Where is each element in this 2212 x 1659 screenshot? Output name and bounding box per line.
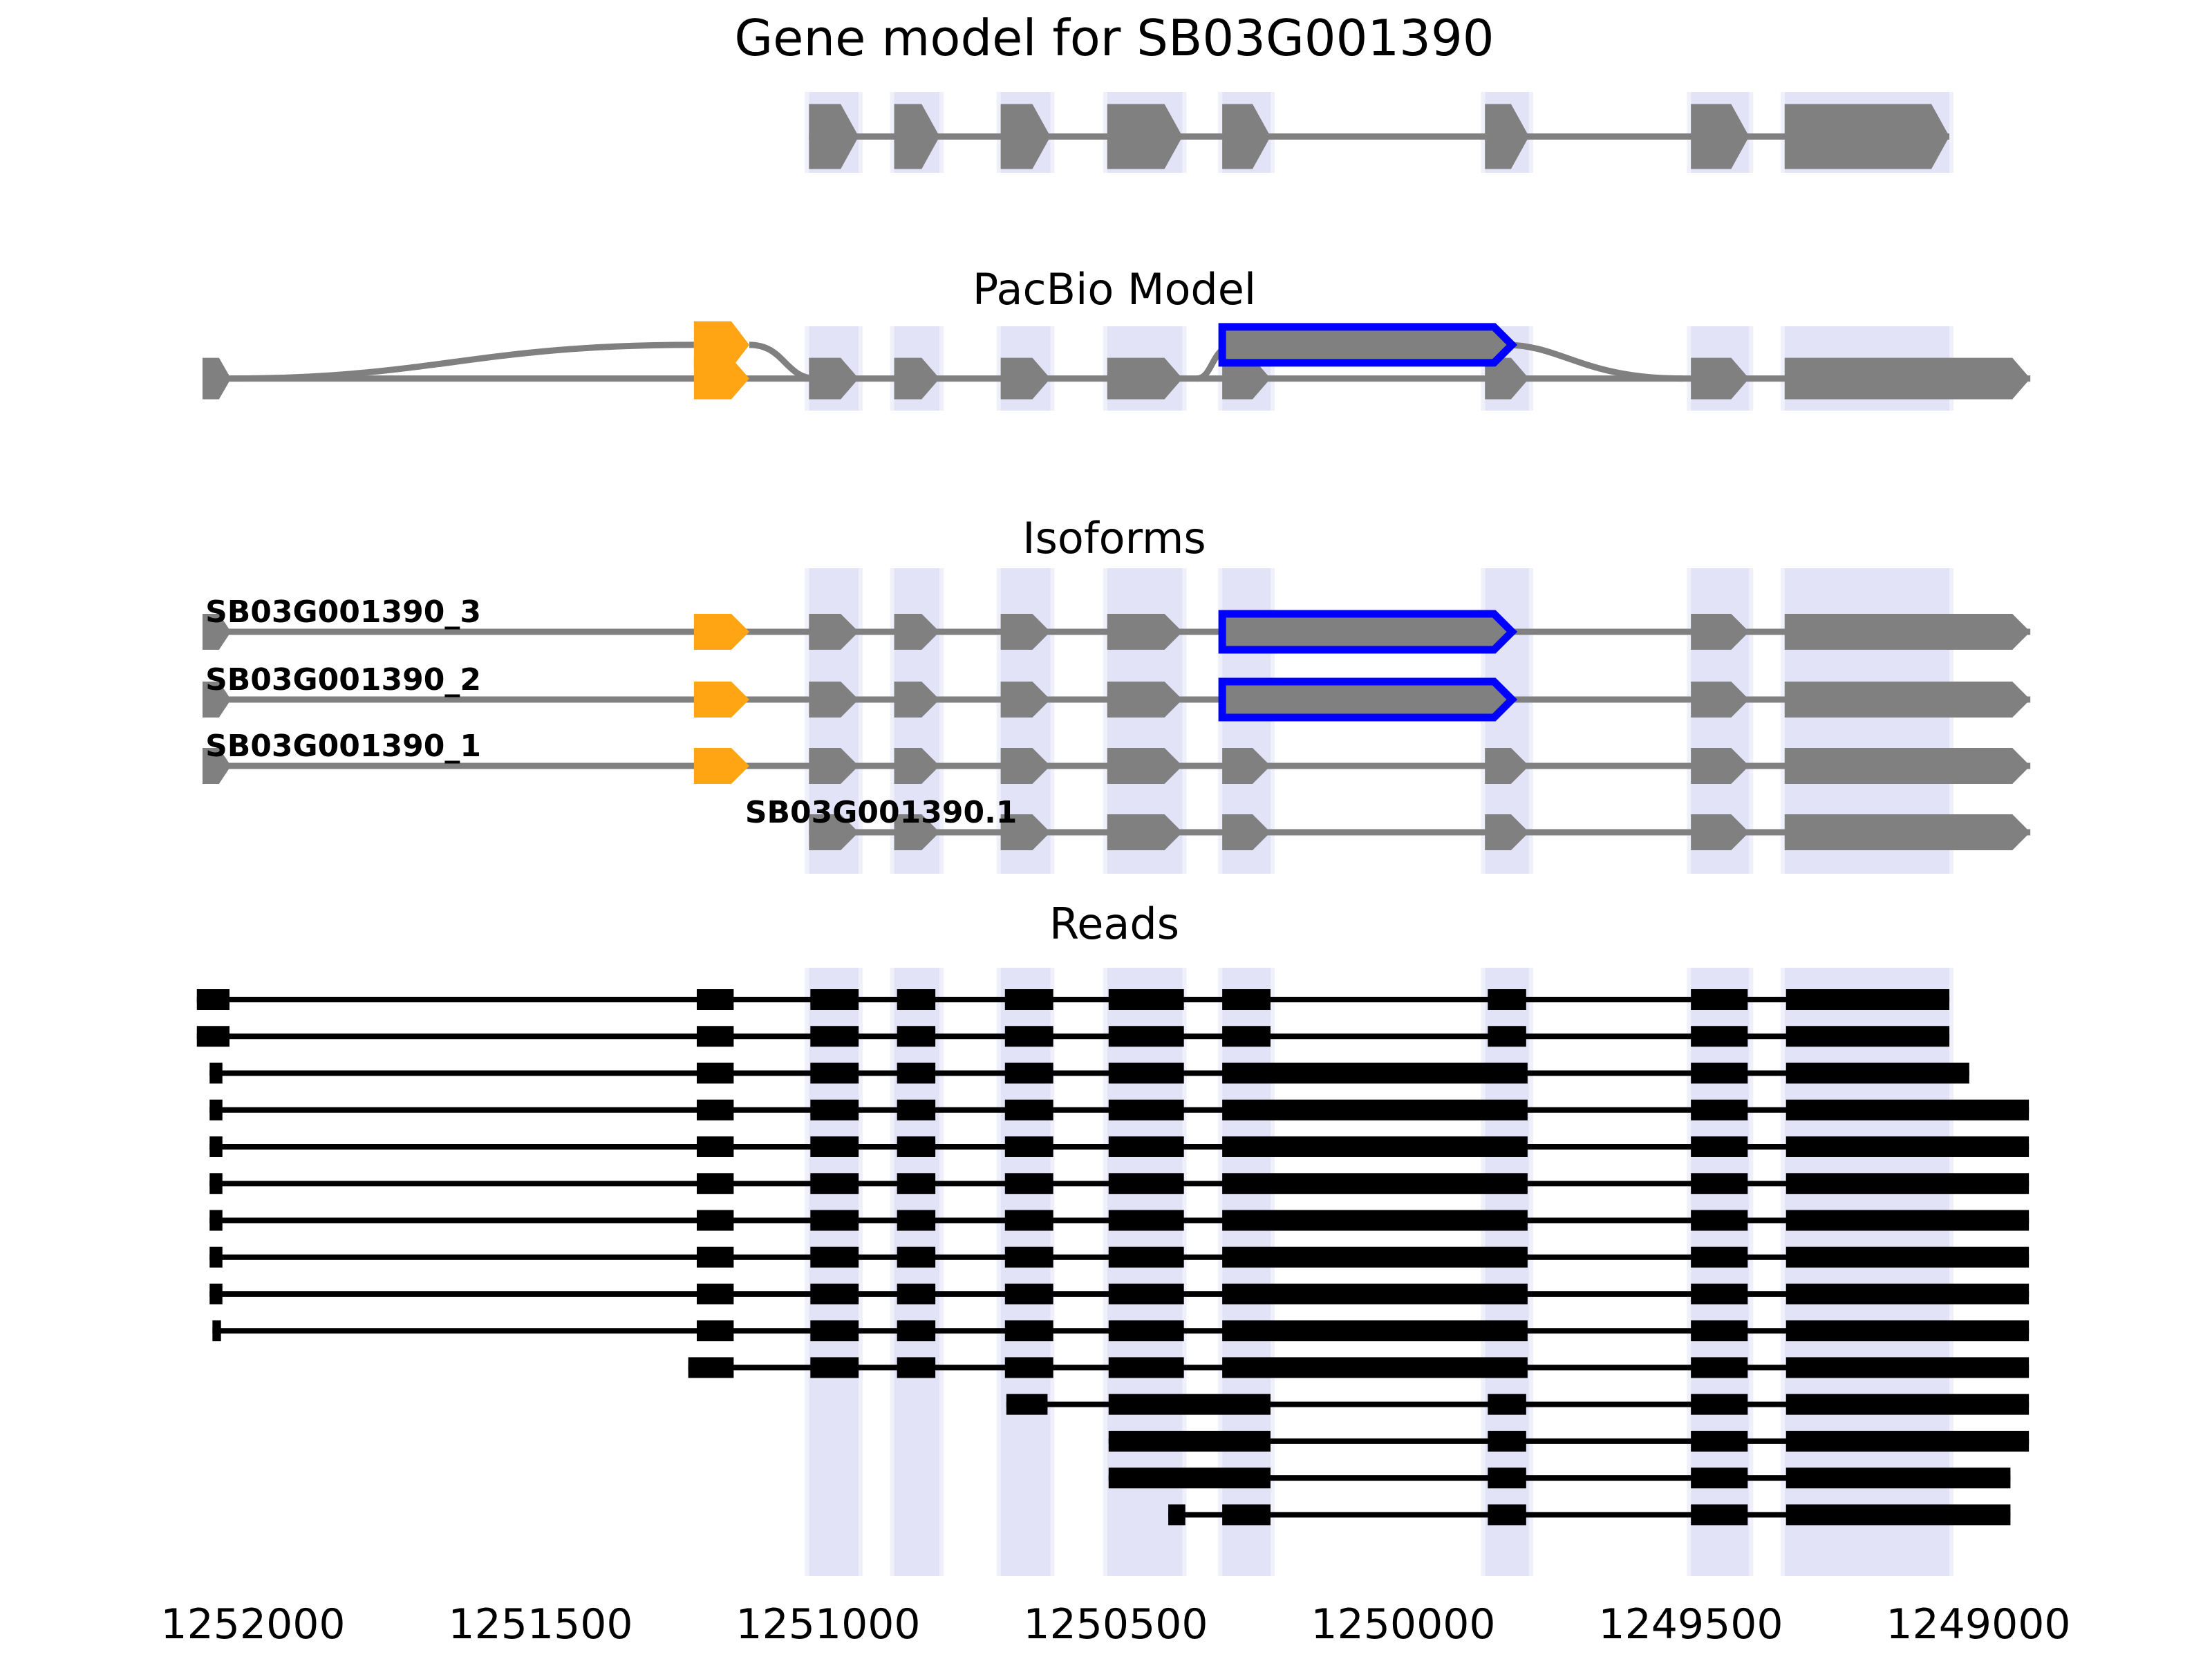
read-block-0 — [212, 1320, 221, 1341]
highlight-band-edge-l-4 — [1218, 92, 1222, 173]
highlight-band-edge-r-0 — [859, 326, 863, 411]
exon-8 — [1785, 682, 2030, 718]
read-block-0 — [209, 1100, 222, 1121]
highlight-band-edge-r-2 — [1051, 568, 1055, 874]
highlight-band-edge-r-1 — [939, 92, 944, 173]
read-block-4 — [1005, 1210, 1053, 1230]
read-block-3 — [1786, 1431, 2029, 1452]
panel-title-reads: Reads — [1049, 899, 1179, 949]
read-block-6 — [1222, 1210, 1528, 1230]
axis-tick-label-3: 1250500 — [1023, 1600, 1208, 1649]
exon-9 — [1785, 358, 2030, 400]
highlight-band-edge-l-7 — [1781, 568, 1785, 874]
highlight-band-edge-l-1 — [890, 326, 894, 411]
highlight-band-edge-r-5 — [1529, 92, 1533, 173]
axis-tick-label-5: 1249500 — [1598, 1600, 1783, 1649]
read-block-0 — [209, 1173, 222, 1194]
highlight-band-edge-r-6 — [1749, 568, 1753, 874]
exon-7 — [1785, 104, 1949, 169]
read-block-0 — [1109, 1468, 1271, 1488]
axis-tick-label-0: 1252000 — [160, 1600, 345, 1649]
highlight-band-0 — [809, 968, 859, 1576]
read-block-4 — [1005, 1247, 1053, 1268]
read-block-2 — [1691, 1431, 1747, 1452]
read-block-5 — [1222, 1357, 1528, 1378]
read-block-3 — [897, 1210, 935, 1230]
read-block-5 — [1109, 1136, 1184, 1157]
read-block-4 — [1005, 1173, 1053, 1194]
read-block-8 — [1786, 1284, 2029, 1304]
read-block-3 — [897, 1026, 935, 1047]
panel-title-isoforms: Isoforms — [1022, 513, 1206, 563]
exon-6 — [1222, 682, 1512, 718]
read-block-8 — [1786, 1100, 2029, 1121]
read-block-2 — [810, 1210, 859, 1230]
read-block-0 — [209, 1247, 222, 1268]
read-block-5 — [1109, 1062, 1184, 1083]
read-block-6 — [1222, 1062, 1528, 1083]
read-block-2 — [810, 1100, 859, 1121]
read-block-8 — [1691, 989, 1747, 1010]
exon-6 — [1222, 614, 1512, 650]
read-block-0 — [688, 1357, 734, 1378]
highlight-band-edge-r-7 — [1949, 92, 1953, 173]
read-block-7 — [1691, 1247, 1747, 1268]
highlight-band-edge-r-5 — [1529, 568, 1533, 874]
exon-blue-outline-upper — [1222, 327, 1512, 363]
read-block-5 — [1109, 1173, 1184, 1194]
read-block-2 — [810, 1320, 859, 1341]
highlight-band-edge-l-6 — [1687, 568, 1691, 874]
axis-tick-label-2: 1251000 — [735, 1600, 920, 1649]
read-block-6 — [1691, 1357, 1747, 1378]
highlight-band-edge-l-7 — [1781, 326, 1785, 411]
highlight-band-edge-l-3 — [1103, 326, 1107, 411]
highlight-band-edge-r-2 — [1051, 968, 1055, 1576]
highlight-band-edge-l-5 — [1481, 968, 1485, 1576]
read-block-9 — [1786, 989, 1949, 1010]
highlight-band-edge-l-0 — [805, 968, 809, 1576]
read-block-0 — [209, 1136, 222, 1157]
read-block-8 — [1786, 1062, 1969, 1083]
read-block-7 — [1488, 989, 1526, 1010]
highlight-band-edge-l-6 — [1687, 968, 1691, 1576]
read-block-1 — [697, 1210, 733, 1230]
read-block-1 — [697, 1247, 733, 1268]
read-block-1 — [697, 1136, 733, 1157]
read-block-6 — [1222, 1136, 1528, 1157]
read-block-4 — [1786, 1504, 2011, 1525]
highlight-band-edge-l-2 — [997, 968, 1001, 1576]
isoform-label-0: SB03G001390_3 — [205, 594, 481, 630]
read-block-0 — [197, 1026, 229, 1047]
highlight-band-edge-l-5 — [1481, 92, 1485, 173]
read-block-3 — [1005, 1357, 1053, 1378]
read-block-0 — [209, 1284, 222, 1304]
read-block-6 — [1222, 1026, 1271, 1047]
read-block-3 — [897, 1320, 935, 1341]
read-block-6 — [1222, 1100, 1528, 1121]
read-block-7 — [1691, 1173, 1747, 1194]
read-block-0 — [209, 1210, 222, 1230]
highlight-band-edge-r-0 — [859, 968, 863, 1576]
axis-tick-label-1: 1251500 — [448, 1600, 632, 1649]
read-block-1 — [697, 1062, 733, 1083]
highlight-band-edge-r-3 — [1183, 92, 1187, 173]
read-block-3 — [1691, 1504, 1747, 1525]
highlight-band-2 — [1001, 968, 1051, 1576]
read-block-0 — [209, 1062, 222, 1083]
read-block-3 — [897, 1062, 935, 1083]
read-track-11 — [1006, 1394, 2029, 1415]
highlight-band-edge-r-0 — [859, 92, 863, 173]
read-block-5 — [1109, 1100, 1184, 1121]
read-block-6 — [1222, 1173, 1528, 1194]
read-block-0 — [197, 989, 229, 1010]
highlight-band-edge-l-7 — [1781, 968, 1785, 1576]
read-block-4 — [1109, 1357, 1184, 1378]
read-block-2 — [810, 1136, 859, 1157]
highlight-band-edge-l-1 — [890, 968, 894, 1576]
read-block-2 — [897, 1357, 935, 1378]
read-block-8 — [1691, 1026, 1747, 1047]
highlight-band-edge-l-3 — [1103, 968, 1107, 1576]
highlight-band-edge-l-6 — [1687, 326, 1691, 411]
read-block-7 — [1691, 1210, 1747, 1230]
read-block-1 — [697, 1284, 733, 1304]
read-block-1 — [1488, 1431, 1526, 1452]
read-block-1 — [697, 989, 733, 1010]
read-block-9 — [1786, 1026, 1949, 1047]
read-block-7 — [1691, 1136, 1747, 1157]
read-block-4 — [1005, 1100, 1053, 1121]
highlight-band-edge-r-3 — [1183, 568, 1187, 874]
read-block-1 — [1222, 1504, 1271, 1525]
read-block-5 — [1109, 1284, 1184, 1304]
read-block-0 — [1006, 1394, 1048, 1415]
read-block-8 — [1786, 1173, 2029, 1194]
highlight-band-edge-r-5 — [1529, 968, 1533, 1576]
isoform-label-2: SB03G001390_1 — [205, 729, 481, 764]
highlight-band-edge-l-0 — [805, 326, 809, 411]
highlight-band-edge-l-3 — [1103, 92, 1107, 173]
exon-9 — [1785, 748, 2030, 784]
read-block-2 — [810, 1026, 859, 1047]
highlight-band-edge-r-6 — [1749, 92, 1753, 173]
highlight-band-edge-l-2 — [997, 92, 1001, 173]
read-block-4 — [1005, 989, 1053, 1010]
read-block-3 — [897, 989, 935, 1010]
read-block-8 — [1786, 1247, 2029, 1268]
read-block-5 — [1109, 1026, 1184, 1047]
read-block-1 — [1488, 1468, 1526, 1488]
highlight-band-edge-l-2 — [997, 326, 1001, 411]
read-block-3 — [897, 1100, 935, 1121]
read-block-1 — [697, 1173, 733, 1194]
isoform-label-3: SB03G001390.1 — [745, 795, 1018, 830]
read-block-7 — [1691, 1062, 1747, 1083]
highlight-band-edge-r-1 — [939, 326, 944, 411]
highlight-band-edge-r-6 — [1749, 326, 1753, 411]
read-block-2 — [1488, 1394, 1526, 1415]
axis-tick-label-6: 1249000 — [1886, 1600, 2070, 1649]
read-block-4 — [1005, 1284, 1053, 1304]
read-block-5 — [1109, 1210, 1184, 1230]
read-block-3 — [897, 1247, 935, 1268]
read-block-3 — [897, 1136, 935, 1157]
read-block-8 — [1786, 1210, 2029, 1230]
gene-model-figure: Gene model for SB03G001390 PacBio Model … — [0, 0, 2212, 1659]
read-block-1 — [697, 1320, 733, 1341]
read-block-1 — [810, 1357, 859, 1378]
read-block-6 — [1222, 1247, 1528, 1268]
read-block-4 — [1005, 1320, 1053, 1341]
read-block-5 — [1109, 1320, 1184, 1341]
read-block-4 — [1005, 1062, 1053, 1083]
highlight-band-edge-r-4 — [1271, 968, 1275, 1576]
read-block-2 — [1488, 1504, 1526, 1525]
highlight-band-edge-r-2 — [1051, 326, 1055, 411]
read-block-1 — [697, 1100, 733, 1121]
read-block-7 — [1691, 1284, 1747, 1304]
highlight-band-edge-l-6 — [1687, 92, 1691, 173]
read-block-1 — [697, 1026, 733, 1047]
read-block-5 — [1109, 1247, 1184, 1268]
axis-tick-label-4: 1250000 — [1311, 1600, 1495, 1649]
read-block-7 — [1786, 1357, 2029, 1378]
read-block-2 — [810, 1247, 859, 1268]
read-block-2 — [810, 1173, 859, 1194]
highlight-band-1 — [894, 968, 940, 1576]
read-block-8 — [1786, 1320, 2029, 1341]
read-block-8 — [1786, 1136, 2029, 1157]
read-block-2 — [810, 1284, 859, 1304]
exon-8 — [1785, 614, 2030, 650]
read-block-6 — [1222, 989, 1271, 1010]
read-block-7 — [1488, 1026, 1526, 1047]
read-block-1 — [1109, 1394, 1271, 1415]
read-block-6 — [1222, 1320, 1528, 1341]
read-block-3 — [1691, 1394, 1747, 1415]
read-block-2 — [810, 1062, 859, 1083]
highlight-band-edge-l-3 — [1103, 568, 1107, 874]
read-block-4 — [1786, 1394, 2029, 1415]
highlight-band-edge-l-1 — [890, 92, 894, 173]
figure-root: Gene model for SB03G001390 PacBio Model … — [0, 0, 2212, 1659]
read-block-3 — [1786, 1468, 2011, 1488]
read-block-4 — [1005, 1026, 1053, 1047]
highlight-band-edge-r-2 — [1051, 92, 1055, 173]
read-block-5 — [1109, 989, 1184, 1010]
read-block-6 — [1222, 1284, 1528, 1304]
page-title: Gene model for SB03G001390 — [734, 9, 1494, 67]
highlight-band-edge-l-7 — [1781, 92, 1785, 173]
highlight-band-edge-l-0 — [805, 92, 809, 173]
highlight-band-edge-r-4 — [1271, 92, 1275, 173]
highlight-band-edge-r-1 — [939, 968, 944, 1576]
read-block-7 — [1691, 1320, 1747, 1341]
isoform-label-1: SB03G001390_2 — [205, 662, 481, 697]
read-block-4 — [1005, 1136, 1053, 1157]
read-block-3 — [897, 1284, 935, 1304]
read-block-0 — [1109, 1431, 1271, 1452]
highlight-band-edge-r-3 — [1183, 326, 1187, 411]
read-block-0 — [1168, 1504, 1185, 1525]
highlight-band-edge-r-5 — [1529, 326, 1533, 411]
read-block-2 — [1691, 1468, 1747, 1488]
read-block-2 — [810, 989, 859, 1010]
read-block-7 — [1691, 1100, 1747, 1121]
exon-7 — [1785, 814, 2030, 850]
panel-title-pacbio: PacBio Model — [973, 264, 1256, 315]
highlight-band-edge-r-6 — [1749, 968, 1753, 1576]
read-block-3 — [897, 1173, 935, 1194]
